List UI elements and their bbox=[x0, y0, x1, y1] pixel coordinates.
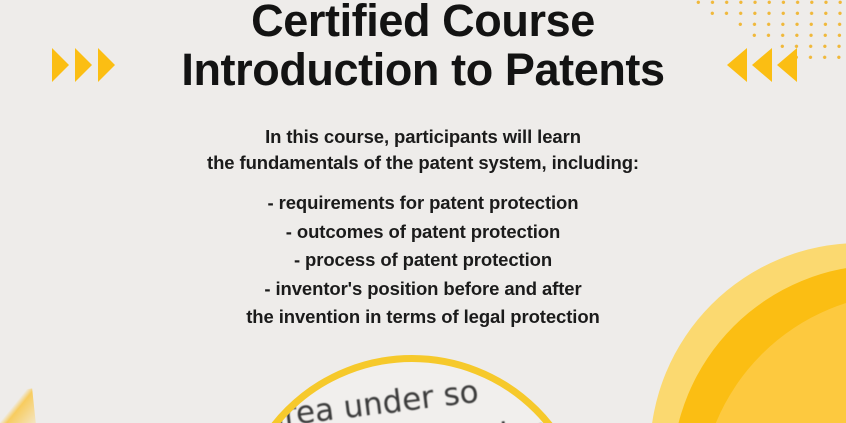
course-topic-item: - requirements for patent protection bbox=[0, 189, 846, 218]
magnifier-graphic: area under so liceman or social w bbox=[233, 355, 591, 423]
course-topic-item: the invention in terms of legal protecti… bbox=[0, 303, 846, 332]
intro-line-1: In this course, participants will learn bbox=[0, 124, 846, 150]
course-topic-item: - process of patent protection bbox=[0, 246, 846, 275]
decor-corner-wedge bbox=[0, 389, 39, 423]
course-topic-item: - outcomes of patent protection bbox=[0, 218, 846, 247]
title-line-1: Certified Course bbox=[0, 0, 846, 45]
course-topic-item: - inventor's position before and after bbox=[0, 275, 846, 304]
page-title: Certified Course Introduction to Patents bbox=[0, 0, 846, 95]
course-description: In this course, participants will learn … bbox=[0, 124, 846, 332]
title-line-2: Introduction to Patents bbox=[0, 45, 846, 95]
course-topic-list: - requirements for patent protection - o… bbox=[0, 189, 846, 332]
intro-line-2: the fundamentals of the patent system, i… bbox=[0, 150, 846, 176]
magnifier-text-group: area under so liceman or social w bbox=[235, 355, 591, 423]
poster-canvas: area under so liceman or social w Certif… bbox=[0, 0, 846, 423]
